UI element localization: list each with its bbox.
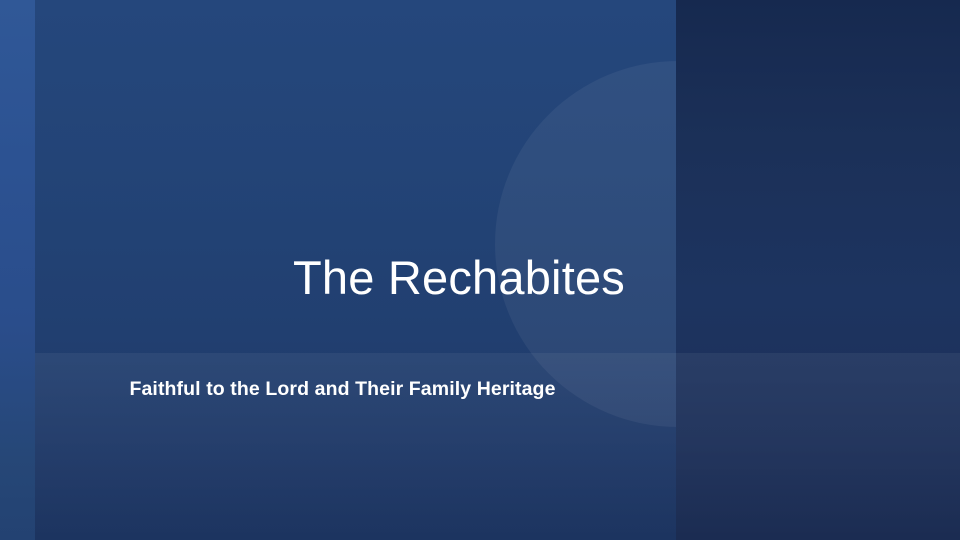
slide-text-layer: The Rechabites Faithful to the Lord and … [0, 0, 960, 540]
slide-title[interactable]: The Rechabites [60, 252, 625, 305]
title-slide: The Rechabites Faithful to the Lord and … [0, 0, 960, 540]
slide-subtitle[interactable]: Faithful to the Lord and Their Family He… [60, 378, 625, 401]
